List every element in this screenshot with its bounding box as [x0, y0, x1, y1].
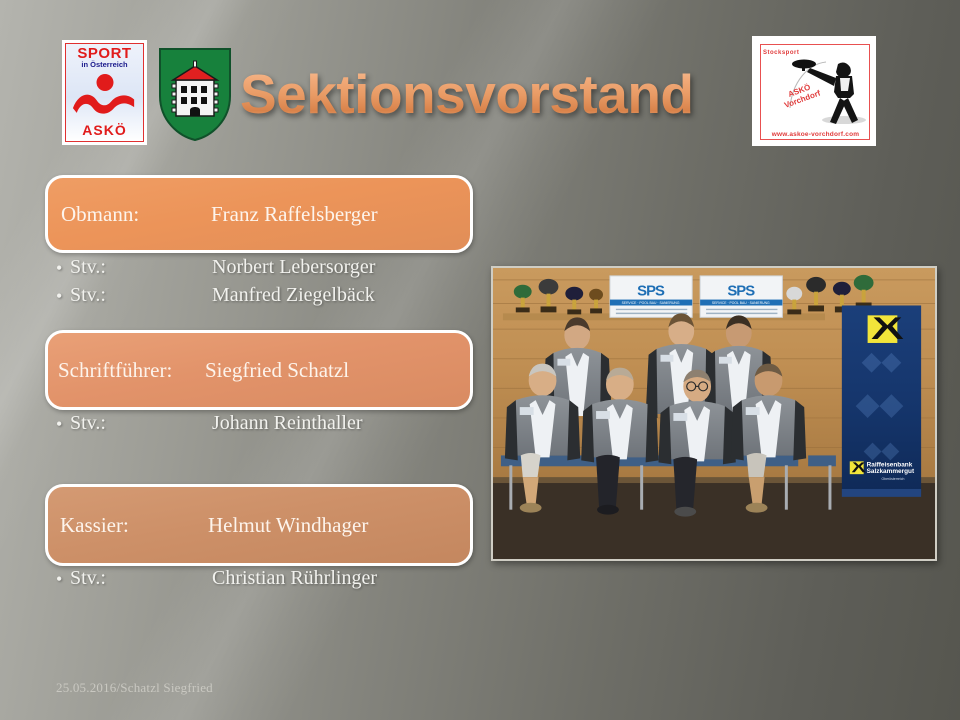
- role-label-obmann: Obmann:: [61, 202, 211, 227]
- bullet-icon: •: [56, 415, 70, 433]
- role-box-kassier[interactable]: Kassier: Helmut Windhager: [45, 484, 473, 566]
- deputy-label-4: Stv.:: [70, 567, 212, 590]
- page-title: Sektionsvorstand: [240, 56, 740, 132]
- askoe-logo: SPORT in Österreich ASKÖ: [62, 40, 147, 145]
- vorchdorf-coat-of-arms-icon: [157, 46, 233, 142]
- svg-text:SERVICE · POOL BAU · SANIERUNG: SERVICE · POOL BAU · SANIERUNG: [712, 301, 770, 305]
- team-photo: SPS SERVICE · POOL BAU · SANIERUNG SPS S…: [491, 266, 937, 561]
- svg-text:SPS: SPS: [727, 284, 755, 300]
- bullet-icon: •: [56, 259, 70, 277]
- presentation-slide: SPORT in Österreich ASKÖ: [0, 0, 960, 720]
- list-item-deputy-3: • Stv.: Johann Reinthaller: [56, 412, 476, 435]
- stocksport-vorchdorf-logo: Stocksport ASKÖVorchdorf www.askoe-vorch…: [752, 36, 876, 146]
- bullet-icon: •: [56, 287, 70, 305]
- askoe-figure-body-icon: [71, 89, 138, 115]
- list-item-deputy-4: • Stv.: Christian Rührlinger: [56, 567, 476, 590]
- deputy-name-3: Johann Reinthaller: [212, 412, 363, 435]
- list-item-deputy-1: • Stv.: Norbert Lebersorger: [56, 256, 476, 279]
- askoe-sport-text: SPORT: [66, 46, 143, 61]
- list-item-deputy-2: • Stv.: Manfred Ziegelbäck: [56, 284, 476, 307]
- bullet-icon: •: [56, 570, 70, 588]
- stocksport-url-label: www.askoe-vorchdorf.com: [762, 131, 869, 138]
- deputy-name-1: Norbert Lebersorger: [212, 256, 375, 279]
- slide-footer: 25.05.2016/Schatzl Siegfried: [56, 680, 213, 696]
- svg-text:Oberösterreich: Oberösterreich: [881, 477, 904, 481]
- svg-text:Salzkammergut: Salzkammergut: [867, 468, 915, 475]
- svg-text:SPS: SPS: [637, 284, 665, 300]
- role-name-schriftfuehrer: Siegfried Schatzl: [205, 358, 349, 383]
- role-box-schriftfuehrer[interactable]: Schriftführer: Siegfried Schatzl: [45, 330, 473, 410]
- deputy-label-1: Stv.:: [70, 256, 212, 279]
- role-name-obmann: Franz Raffelsberger: [211, 202, 378, 227]
- role-box-obmann[interactable]: Obmann: Franz Raffelsberger: [45, 175, 473, 253]
- deputy-label-3: Stv.:: [70, 412, 212, 435]
- svg-text:SERVICE · POOL BAU · SANIERUNG: SERVICE · POOL BAU · SANIERUNG: [622, 301, 680, 305]
- askoe-subtitle-text: in Österreich: [66, 61, 143, 69]
- deputy-label-2: Stv.:: [70, 284, 212, 307]
- askoe-logo-inner: SPORT in Österreich ASKÖ: [65, 43, 144, 142]
- role-label-kassier: Kassier:: [60, 513, 208, 538]
- stocksport-side-label: Stocksport: [763, 50, 773, 57]
- role-label-schriftfuehrer: Schriftführer:: [58, 358, 205, 383]
- deputy-name-2: Manfred Ziegelbäck: [212, 284, 375, 307]
- askoe-wordmark-text: ASKÖ: [66, 123, 143, 138]
- deputy-name-4: Christian Rührlinger: [212, 567, 377, 590]
- role-name-kassier: Helmut Windhager: [208, 513, 368, 538]
